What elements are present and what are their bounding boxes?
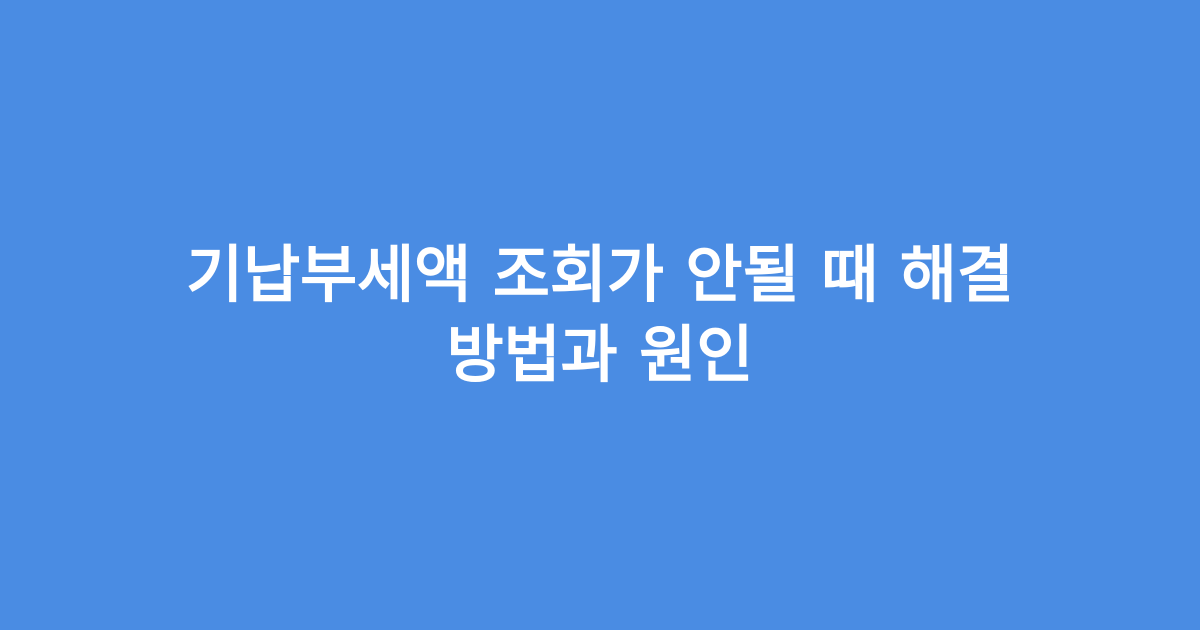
title-line-1: 기납부세액 조회가 안될 때 해결: [120, 235, 1080, 315]
title-block: 기납부세액 조회가 안될 때 해결 방법과 원인: [100, 235, 1100, 395]
title-line-2: 방법과 원인: [120, 315, 1080, 395]
thumbnail-card: 기납부세액 조회가 안될 때 해결 방법과 원인: [0, 0, 1200, 630]
